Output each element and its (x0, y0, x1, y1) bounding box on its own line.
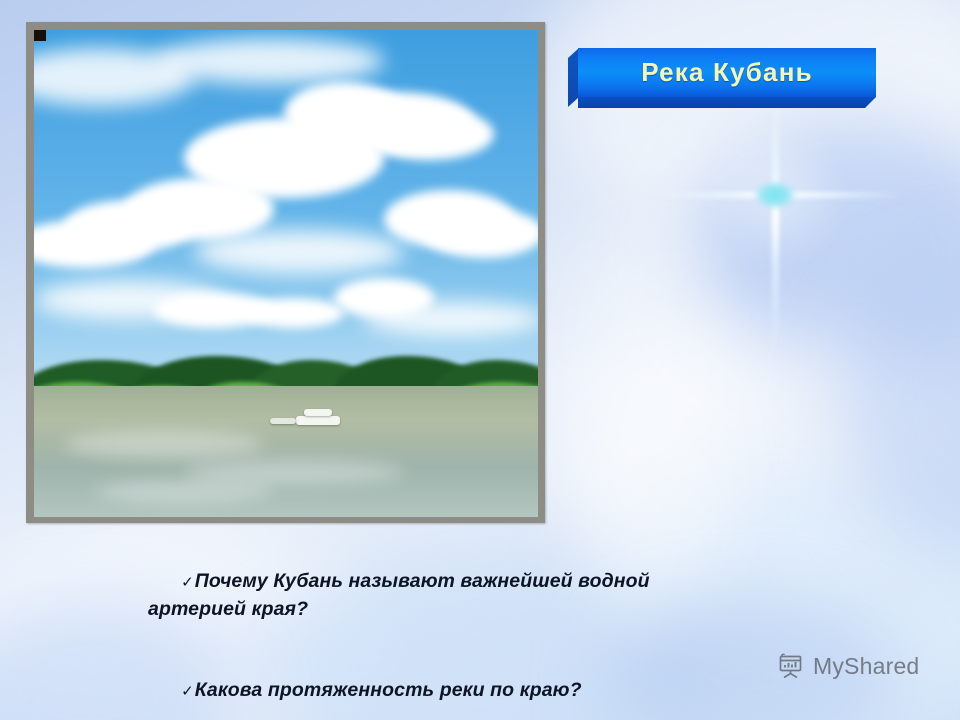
photo-water-reflection (94, 482, 274, 502)
river-photo[interactable] (34, 30, 538, 517)
presentation-board-icon (776, 652, 806, 680)
photo-boat (296, 416, 340, 425)
photo-cloud (154, 38, 384, 84)
title-banner-bottom-bevel (578, 97, 876, 108)
photo-cloud (194, 230, 404, 274)
photo-cloud (244, 298, 344, 328)
question-list: ✓Почему Кубань называют важнейшей водной… (148, 541, 668, 720)
question-text: Почему Кубань называют важнейшей водной … (148, 570, 655, 620)
question-text: Какова протяженность реки по краю? (195, 679, 582, 701)
list-item: ✓Почему Кубань называют важнейшей водной… (148, 541, 668, 650)
slide-canvas: Река Кубань ✓Почему Кубань называют важн… (0, 0, 960, 720)
myshared-watermark: MyShared (776, 652, 919, 680)
watermark-label: MyShared (813, 653, 919, 680)
checkmark-icon: ✓ (181, 574, 195, 591)
photo-cloud (424, 208, 538, 258)
checkmark-icon: ✓ (181, 683, 195, 700)
page-title: Река Кубань (578, 48, 876, 97)
photo-cloud (364, 302, 538, 336)
photo-boat-cabin (304, 409, 332, 416)
photo-frame[interactable] (26, 22, 545, 523)
title-banner[interactable]: Река Кубань (568, 48, 876, 108)
photo-water-reflection (64, 430, 264, 458)
list-item: ✓Какова протяженность реки по краю? (148, 650, 668, 720)
photo-handle-top-left[interactable] (34, 30, 46, 41)
photo-cloud (364, 108, 494, 160)
photo-water-reflection (184, 460, 404, 484)
photo-boat-dock (270, 418, 296, 424)
